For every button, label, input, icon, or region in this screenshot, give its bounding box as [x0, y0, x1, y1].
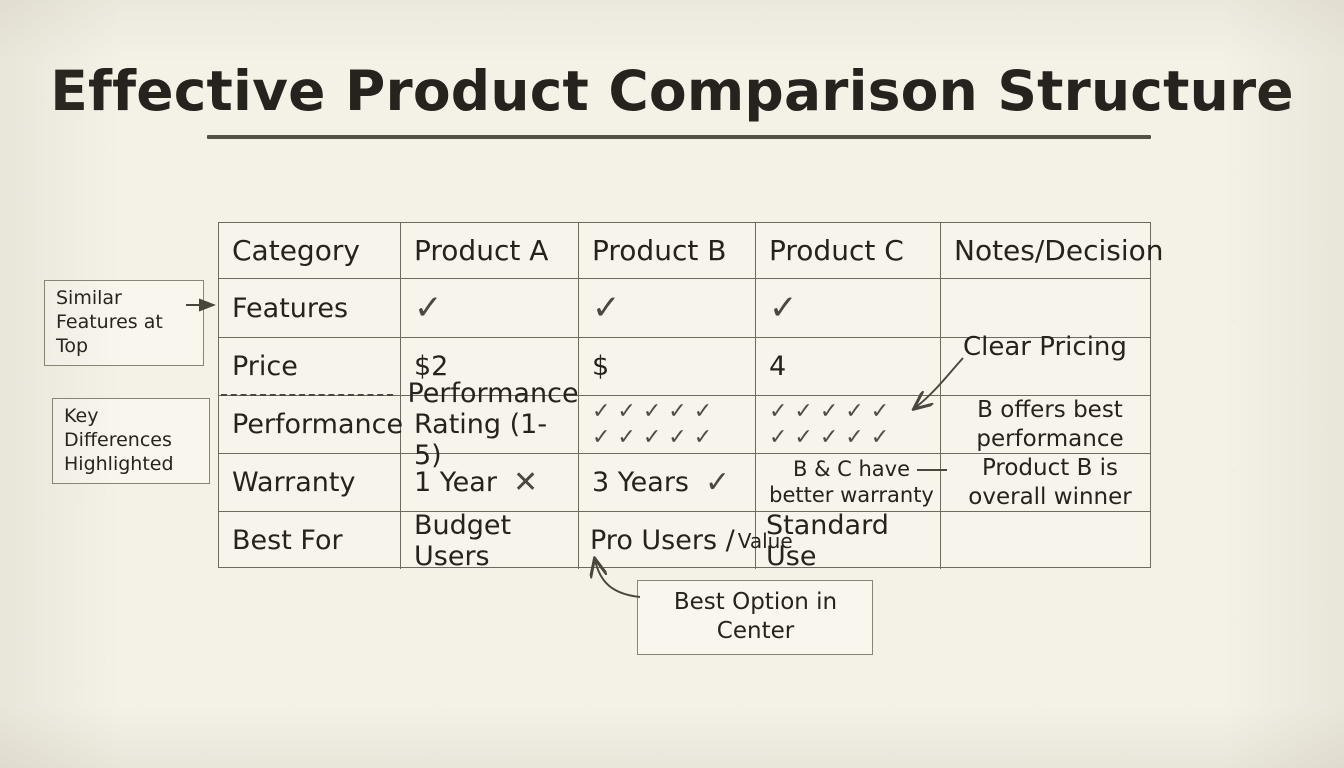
check-icon: ✓	[592, 291, 621, 325]
comparison-table: Category Product A Product B Product C N…	[218, 222, 1151, 568]
annotation-similar-features: Similar Features at Top	[44, 280, 204, 366]
check-icon: ✓	[769, 291, 798, 325]
row-label-best-for: Best For	[219, 512, 401, 569]
column-header-notes-decision: Notes/Decision	[941, 223, 1152, 278]
annotation-clear-pricing: Clear Pricing	[963, 332, 1127, 362]
best-for-b-main: Pro Users /	[590, 525, 735, 556]
column-header-category: Category	[219, 223, 401, 278]
annotation-key-differences: Key Differences Highlighted	[52, 398, 210, 484]
best-for-product-a-cell: Budget Users	[401, 512, 579, 569]
price-product-b-cell: $	[579, 338, 756, 395]
check-icon-row: ✓ ✓ ✓ ✓ ✓	[592, 400, 712, 424]
table-row-warranty: Warranty 1 Year ✕ 3 Years ✓ B & C have b…	[219, 454, 1150, 512]
performance-product-c-cell: ✓ ✓ ✓ ✓ ✓ ✓ ✓ ✓ ✓ ✓	[756, 396, 941, 453]
column-header-product-b: Product B	[579, 223, 756, 278]
annotation-best-option: Best Option in Center	[637, 580, 873, 655]
warranty-a-text: 1 Year	[414, 467, 497, 498]
annotation-keydiff-line2: Highlighted	[64, 453, 199, 477]
check-icon-row: ✓ ✓ ✓ ✓ ✓	[769, 400, 889, 424]
table-row-features: Features ✓ ✓ ✓	[219, 279, 1150, 338]
column-header-product-c: Product C	[756, 223, 941, 278]
warranty-note-line2: overall winner	[968, 483, 1131, 511]
performance-product-a-cell: Performance Rating (1-5)	[401, 396, 579, 453]
row-label-performance: Performance	[219, 396, 401, 453]
title-block: Effective Product Comparison Structure	[0, 62, 1344, 120]
cross-icon: ✕	[513, 468, 538, 498]
warranty-c-line2: better warranty	[769, 483, 934, 508]
performance-b-check-group: ✓ ✓ ✓ ✓ ✓ ✓ ✓ ✓ ✓ ✓	[592, 400, 712, 450]
title-underline	[207, 135, 1151, 139]
warranty-c-line1: B & C have	[793, 457, 910, 482]
column-header-product-a: Product A	[401, 223, 579, 278]
page-title: Effective Product Comparison Structure	[0, 62, 1344, 120]
warranty-product-b-cell: 3 Years ✓	[579, 454, 756, 511]
performance-note-line1: B offers best	[977, 396, 1123, 424]
warranty-product-a-cell: 1 Year ✕	[401, 454, 579, 511]
row-label-warranty: Warranty	[219, 454, 401, 511]
row-label-features: Features	[219, 279, 401, 337]
table-row-performance: Performance Performance Rating (1-5) ✓ ✓…	[219, 396, 1150, 454]
warranty-note-line1: Product B is	[982, 454, 1118, 482]
best-for-product-b-cell: Pro Users / Value	[579, 512, 756, 569]
annotation-similar-line2: Features at Top	[56, 311, 193, 359]
check-icon: ✓	[705, 468, 730, 498]
performance-notes-cell: B offers best performance	[941, 396, 1152, 453]
features-product-b-cell: ✓	[579, 279, 756, 337]
performance-c-check-group: ✓ ✓ ✓ ✓ ✓ ✓ ✓ ✓ ✓ ✓	[769, 400, 889, 450]
check-icon-row: ✓ ✓ ✓ ✓ ✓	[592, 426, 712, 450]
warranty-product-c-cell: B & C have better warranty	[756, 454, 941, 511]
features-product-a-cell: ✓	[401, 279, 579, 337]
features-notes-cell	[941, 279, 1152, 337]
row-label-price: Price	[219, 338, 401, 395]
warranty-notes-cell: Product B is overall winner	[941, 454, 1152, 511]
check-icon-row: ✓ ✓ ✓ ✓ ✓	[769, 426, 889, 450]
price-product-c-cell: 4	[756, 338, 941, 395]
annotation-similar-line1: Similar	[56, 287, 193, 311]
annotation-keydiff-line1: Key Differences	[64, 405, 199, 453]
check-icon: ✓	[414, 291, 443, 325]
performance-rating-line1: Performance	[407, 378, 578, 409]
features-product-c-cell: ✓	[756, 279, 941, 337]
best-for-notes-cell	[941, 512, 1152, 569]
best-for-product-c-cell: Standard Use	[756, 512, 941, 569]
performance-note-line2: performance	[976, 425, 1123, 453]
table-header-row: Category Product A Product B Product C N…	[219, 223, 1150, 279]
performance-product-b-cell: ✓ ✓ ✓ ✓ ✓ ✓ ✓ ✓ ✓ ✓	[579, 396, 756, 453]
table-row-best-for: Best For Budget Users Pro Users / Value …	[219, 512, 1150, 569]
warranty-b-text: 3 Years	[592, 467, 689, 498]
